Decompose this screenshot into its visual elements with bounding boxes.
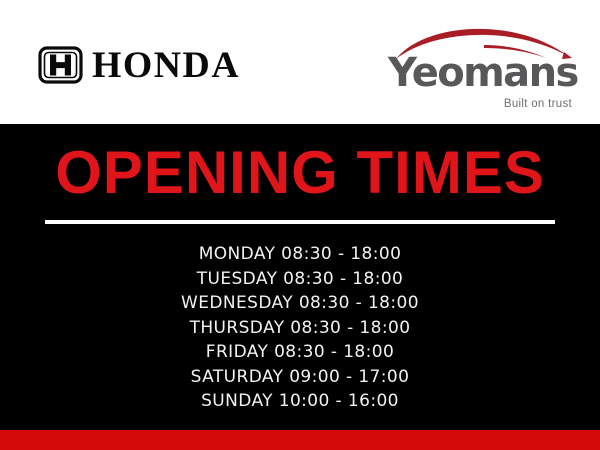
hours-row: WEDNESDAY 08:30 - 18:00 (0, 291, 600, 316)
opening-hours-list: MONDAY 08:30 - 18:00 TUESDAY 08:30 - 18:… (0, 242, 600, 414)
honda-logo: HONDA (38, 44, 237, 86)
yeomans-tagline: Built on trust (504, 98, 572, 110)
hours-row: SUNDAY 10:00 - 16:00 (0, 389, 600, 414)
yeomans-logo: Yeomans Built on trust (388, 28, 574, 98)
yeomans-wordmark: Yeomans (388, 52, 574, 94)
honda-h-emblem-icon (38, 46, 83, 84)
opening-times-poster: HONDA Yeomans Built on trust OPENING TIM… (0, 0, 600, 450)
page-title: OPENING TIMES (0, 142, 600, 204)
footer-accent-bar (0, 430, 600, 450)
logo-header: HONDA Yeomans Built on trust (0, 0, 600, 124)
honda-wordmark: HONDA (92, 47, 240, 84)
title-divider (45, 220, 555, 224)
hours-row: MONDAY 08:30 - 18:00 (0, 242, 600, 267)
hours-row: TUESDAY 08:30 - 18:00 (0, 267, 600, 292)
hours-row: FRIDAY 08:30 - 18:00 (0, 340, 600, 365)
hours-row: SATURDAY 09:00 - 17:00 (0, 365, 600, 390)
opening-times-panel: OPENING TIMES MONDAY 08:30 - 18:00 TUESD… (0, 124, 600, 430)
hours-row: THURSDAY 08:30 - 18:00 (0, 316, 600, 341)
